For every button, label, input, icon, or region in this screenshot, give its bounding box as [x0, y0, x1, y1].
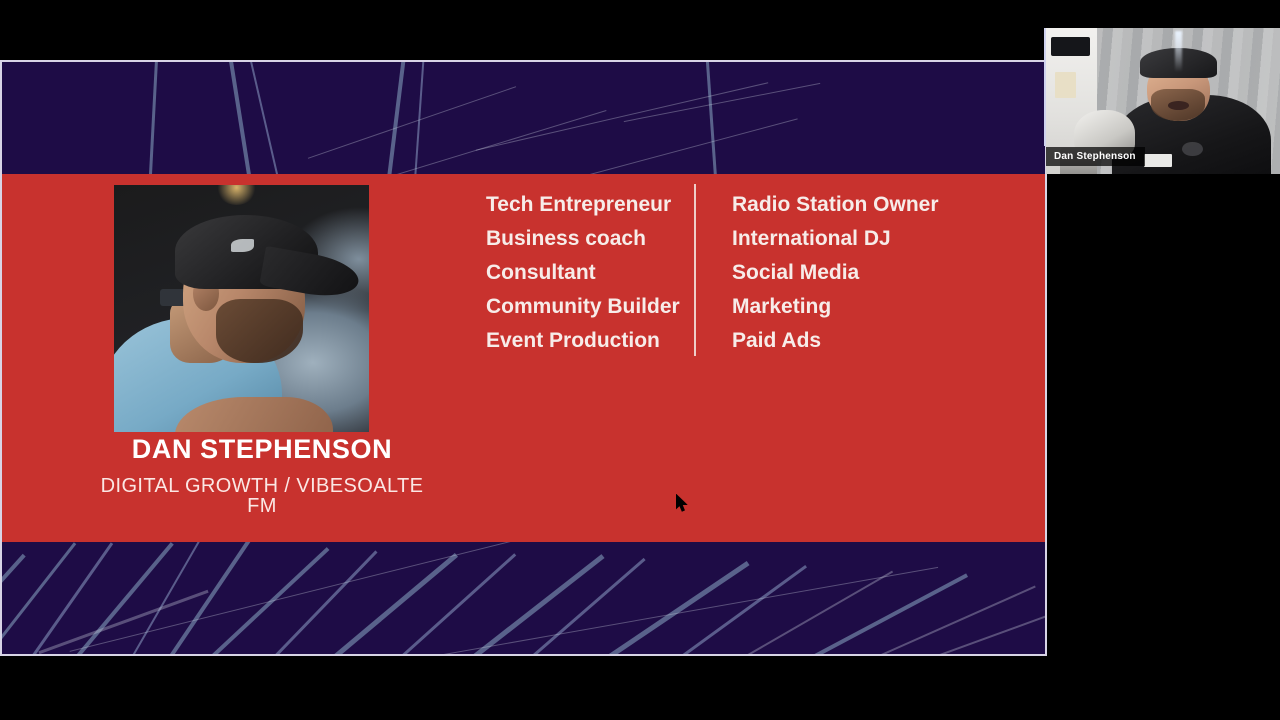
webcam-participant-tile[interactable]: Dan Stephenson — [1046, 28, 1280, 174]
list-item: Social Media — [732, 256, 939, 290]
skills-list: Tech Entrepreneur Business coach Consult… — [486, 188, 939, 358]
presentation-slide[interactable]: DAN STEPHENSON DIGITAL GROWTH / VIBESOAL… — [2, 62, 1045, 654]
list-item: Event Production — [486, 324, 694, 358]
list-item: Community Builder — [486, 290, 694, 324]
list-item: International DJ — [732, 222, 939, 256]
portrait-photo — [114, 185, 369, 432]
slide-top-decorative-band — [2, 62, 1045, 174]
skills-column-left: Tech Entrepreneur Business coach Consult… — [486, 188, 694, 358]
screen-share-stage: DAN STEPHENSON DIGITAL GROWTH / VIBESOAL… — [0, 0, 1280, 720]
page-title: DAN STEPHENSON — [87, 436, 437, 463]
list-item: Business coach — [486, 222, 694, 256]
list-item: Tech Entrepreneur — [486, 188, 694, 222]
skills-column-right: Radio Station Owner International DJ Soc… — [694, 188, 939, 358]
participant-name-label: Dan Stephenson — [1046, 147, 1145, 166]
box-object — [1055, 72, 1076, 98]
skills-column-divider — [694, 184, 696, 356]
light-flare-icon — [1175, 31, 1182, 72]
cap-logo-icon — [231, 239, 254, 251]
list-item: Marketing — [732, 290, 939, 324]
list-item: Paid Ads — [732, 324, 939, 358]
list-item: Consultant — [486, 256, 694, 290]
person-role: DIGITAL GROWTH / VIBESOALTE FM — [87, 476, 437, 516]
slide-bottom-decorative-band — [2, 542, 1045, 654]
mouse-arrow-cursor — [676, 494, 689, 513]
list-item: Radio Station Owner — [732, 188, 939, 222]
shelf-object — [1051, 37, 1091, 56]
